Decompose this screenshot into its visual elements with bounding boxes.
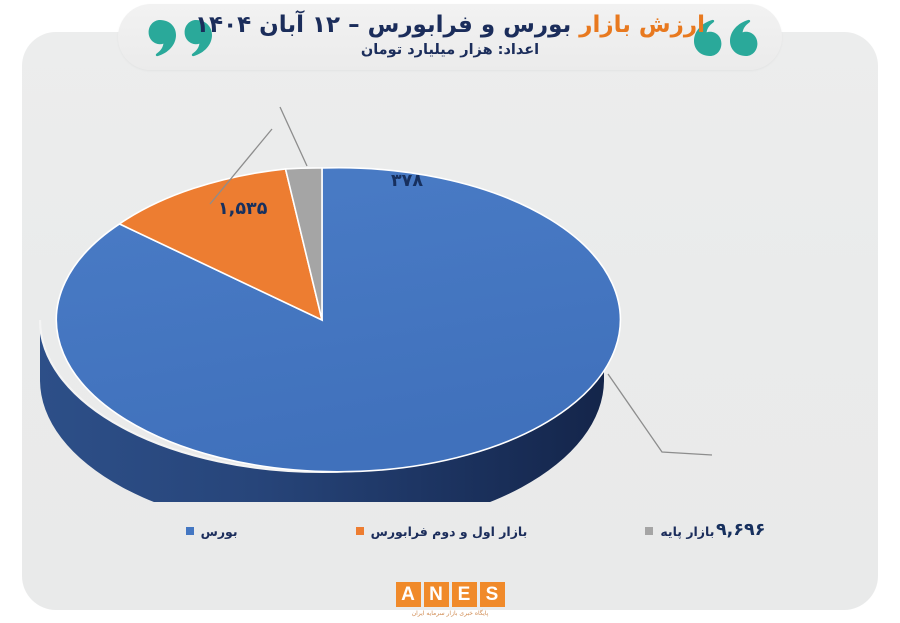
legend-label-farabourse: بازار اول و دوم فرابورس [371, 524, 528, 539]
sena-letter-e: E [452, 582, 477, 607]
legend-swatch-blue-icon [186, 527, 194, 535]
title-main-text: بورس و فرابورس – ۱۲ آبان ۱۴۰۴ [195, 12, 571, 38]
sena-logo: S E N A [396, 582, 505, 607]
legend-item-farabourse[interactable]: بازار اول و دوم فرابورس [356, 524, 528, 539]
sena-letter-a: A [396, 582, 421, 607]
header-title-wrap: ارزش بازار بورس و فرابورس – ۱۲ آبان ۱۴۰۴… [118, 12, 782, 58]
page-title: ارزش بازار بورس و فرابورس – ۱۲ آبان ۱۴۰۴ [118, 12, 782, 39]
infographic-root: ارزش بازار بورس و فرابورس – ۱۲ آبان ۱۴۰۴… [0, 0, 900, 623]
legend-label-bourse: بورس [201, 524, 238, 539]
legend-item-bourse[interactable]: بورس [186, 524, 238, 539]
legend-item-base-market[interactable]: بازار پایه [645, 524, 714, 539]
sena-tagline: پایگاه خبری بازار سرمایه ایران [412, 610, 489, 617]
header-banner: ارزش بازار بورس و فرابورس – ۱۲ آبان ۱۴۰۴… [118, 4, 782, 70]
leader-line-gray [280, 107, 307, 166]
pie-chart: ۱,۵۳۵ ۳۷۸ ۹,۶۹۶ [22, 72, 878, 502]
legend-label-base-market: بازار پایه [660, 524, 714, 539]
page-subtitle: اعداد: هزار میلیارد تومان [118, 42, 782, 58]
chart-legend: بورس بازار اول و دوم فرابورس بازار پایه [22, 516, 878, 546]
leader-line-blue [608, 374, 712, 455]
legend-swatch-gray-icon [645, 527, 653, 535]
legend-swatch-orange-icon [356, 527, 364, 535]
pie-chart-svg [22, 72, 878, 502]
sena-letter-n: N [424, 582, 449, 607]
data-label-orange: ۱,۵۳۵ [218, 199, 267, 219]
footer: S E N A پایگاه خبری بازار سرمایه ایران [0, 582, 900, 617]
sena-letter-s: S [480, 582, 505, 607]
title-accent-text: ارزش بازار [579, 12, 705, 38]
data-label-gray: ۳۷۸ [391, 171, 423, 191]
